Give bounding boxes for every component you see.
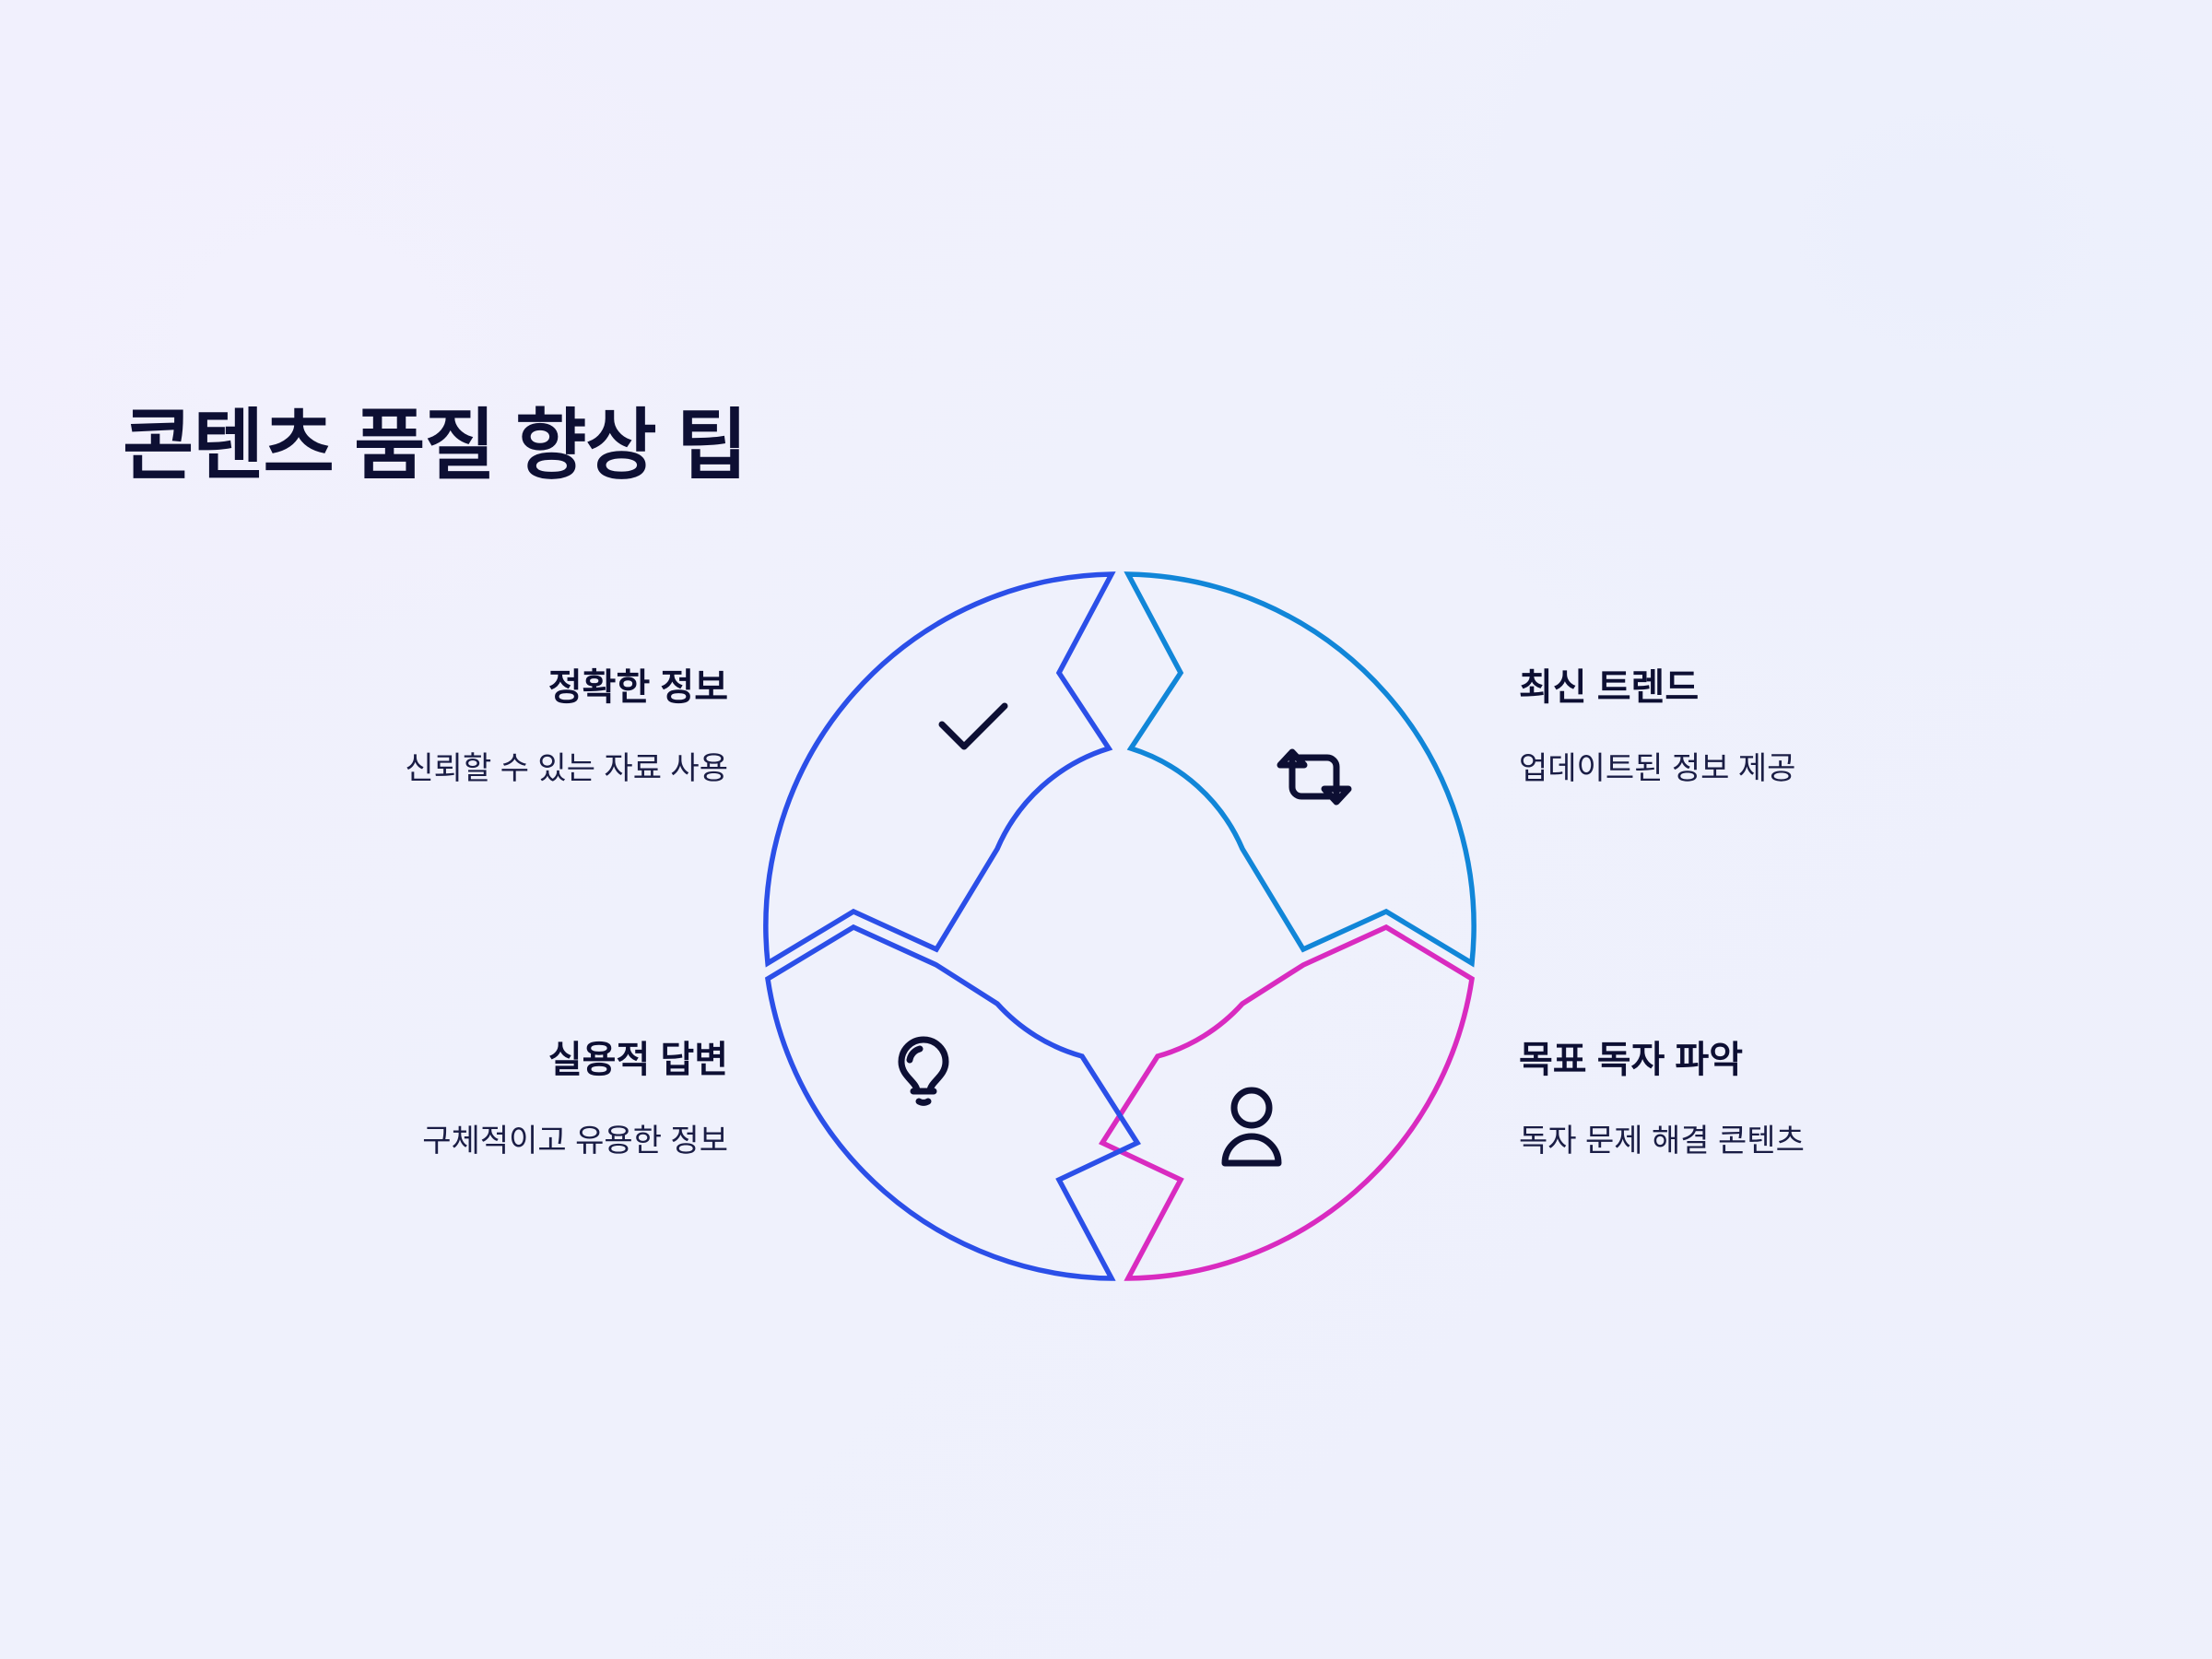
refresh-cycle-icon xyxy=(1280,752,1348,802)
label-subtitle-accurate-info: 신뢰할 수 있는 자료 사용 xyxy=(405,750,728,788)
cycle-diagram xyxy=(737,544,1502,1309)
label-title-accurate-info: 정확한 정보 xyxy=(405,665,728,710)
label-title-practical-answer: 실용적 답변 xyxy=(422,1038,728,1082)
label-subtitle-practical-answer: 구체적이고 유용한 정보 xyxy=(422,1123,728,1160)
user-icon xyxy=(1225,1090,1278,1163)
label-title-latest-trend: 최신 트렌드 xyxy=(1519,665,1795,710)
cycle-diagram-svg xyxy=(737,544,1502,1309)
segment-shape-target-audience[interactable] xyxy=(1102,927,1472,1278)
label-latest-trend[interactable]: 최신 트렌드 업데이트된 정보 제공 xyxy=(1519,665,1795,788)
label-accurate-info[interactable]: 정확한 정보 신뢰할 수 있는 자료 사용 xyxy=(405,665,728,788)
label-subtitle-target-audience: 독자 문제 해결 콘텐츠 xyxy=(1519,1123,1805,1160)
lightbulb-icon xyxy=(901,1040,946,1102)
page-title: 콘텐츠 품질 향상 팁 xyxy=(123,383,747,495)
segment-shape-latest-trend[interactable] xyxy=(1128,574,1474,963)
check-icon xyxy=(942,706,1005,747)
label-target-audience[interactable]: 목표 독자 파악 독자 문제 해결 콘텐츠 xyxy=(1519,1038,1805,1160)
label-subtitle-latest-trend: 업데이트된 정보 제공 xyxy=(1519,750,1795,788)
label-title-target-audience: 목표 독자 파악 xyxy=(1519,1038,1805,1082)
segment-shape-practical-answer[interactable] xyxy=(768,927,1137,1278)
label-practical-answer[interactable]: 실용적 답변 구체적이고 유용한 정보 xyxy=(422,1038,728,1160)
segment-shape-accurate-info[interactable] xyxy=(766,574,1112,963)
